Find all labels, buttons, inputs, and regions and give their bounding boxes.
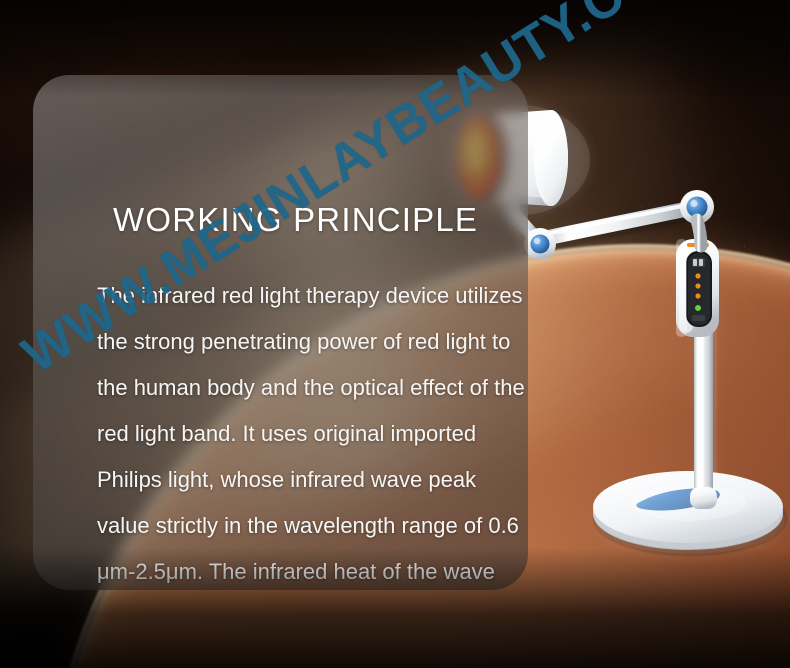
top-vignette [0,0,790,96]
working-principle-card: WORKING PRINCIPLE The infrared red light… [33,75,528,590]
bottom-vignette [0,548,790,668]
card-body-text: The infrared red light therapy device ut… [97,273,527,590]
page-title: WORKING PRINCIPLE [113,201,478,239]
product-banner: WORKING PRINCIPLE The infrared red light… [0,0,790,668]
